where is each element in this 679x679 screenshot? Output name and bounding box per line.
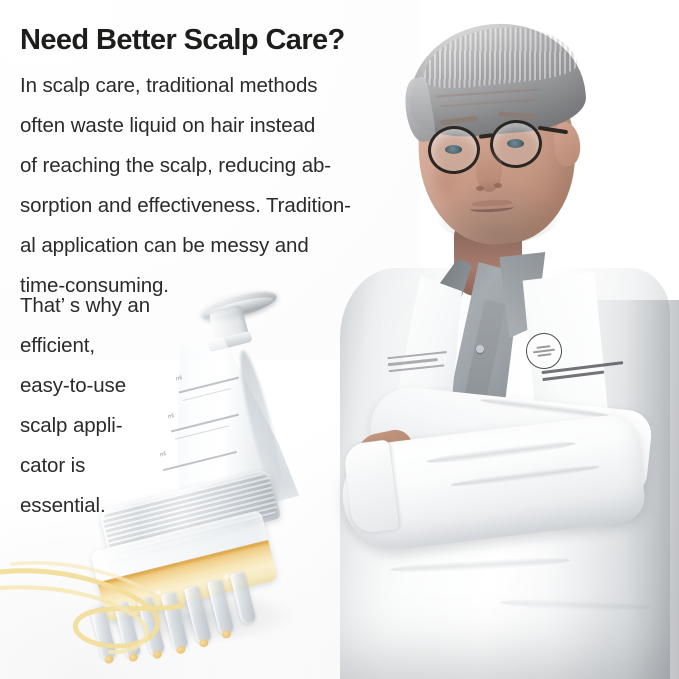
jaw-stubble xyxy=(434,178,562,244)
body-line: efficient, xyxy=(20,326,150,366)
body-line: scalp appli- xyxy=(20,406,150,446)
body-line: al application can be messy and xyxy=(20,226,351,266)
graduation-label: ml xyxy=(167,413,174,420)
body-paragraph-1: In scalp care, traditional methods often… xyxy=(20,66,351,306)
page-title: Need Better Scalp Care? xyxy=(20,24,345,57)
body-paragraph-2: That’ s why an efficient, easy-to-use sc… xyxy=(20,286,150,526)
body-line: sorption and effectiveness. Tradition- xyxy=(20,186,351,226)
infographic-canvas: ml ml ml xyxy=(0,0,679,679)
body-line: That’ s why an xyxy=(20,286,150,326)
doctor-photo xyxy=(330,0,679,679)
body-line: often waste liquid on hair instead xyxy=(20,106,351,146)
body-line: easy-to-use xyxy=(20,366,150,406)
body-line: of reaching the scalp, reducing ab- xyxy=(20,146,351,186)
body-line: essential. xyxy=(20,486,150,526)
shirt-button xyxy=(476,345,484,353)
serum-drizzle xyxy=(0,536,250,666)
body-line: In scalp care, traditional methods xyxy=(20,66,351,106)
body-line: cator is xyxy=(20,446,150,486)
